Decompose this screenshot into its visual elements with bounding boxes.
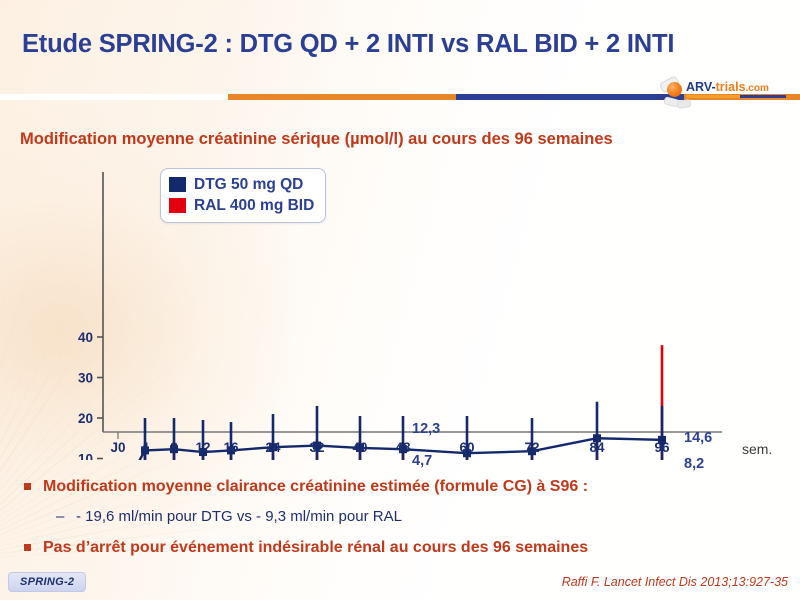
x-tick-label: 72 — [524, 440, 539, 455]
arv-trials-logo[interactable]: ARV-trials.com — [640, 78, 788, 108]
citation-reference: Raffi F. Lancet Infect Dis 2013;13:927-3… — [562, 575, 788, 589]
bullet-text-2: - 19,6 ml/min pour DTG vs - 9,3 ml/min p… — [76, 504, 402, 529]
logo-text: ARV-trials.com — [686, 80, 769, 94]
chart-legend: DTG 50 mg QD RAL 400 mg BID — [160, 168, 326, 223]
bullet-dash-icon: – — [56, 504, 68, 529]
annotation-w48-dtg: 12,3 — [412, 421, 440, 437]
legend-item-ral: RAL 400 mg BID — [169, 195, 314, 216]
logo-text-tld: .com — [746, 83, 769, 94]
legend-swatch-dtg — [169, 177, 186, 192]
serum-creatinine-chart: -20-10010203040 DTG 50 mg QD RAL 400 mg … — [0, 160, 800, 460]
chart-heading: Modification moyenne créatinine sérique … — [20, 130, 613, 149]
x-tick-label: 4 — [141, 440, 149, 455]
x-tick-label: 40 — [352, 440, 367, 455]
x-tick-label: 48 — [395, 440, 410, 455]
legend-swatch-ral — [169, 198, 186, 213]
bullet-text-1: Modification moyenne clairance créatinin… — [43, 474, 588, 500]
logo-underline-blue — [740, 95, 786, 98]
tablet-icon-2 — [676, 99, 691, 109]
x-tick-label: 96 — [654, 440, 669, 455]
logo-text-trials: trials — [716, 80, 746, 94]
bullet-square-icon — [24, 544, 31, 551]
x-tick-label: 8 — [170, 440, 178, 455]
bullet-text-3: Pas d’arrêt pour événement indésirable r… — [43, 535, 588, 561]
y-tick-label: 30 — [78, 371, 93, 386]
bullet-item-3: Pas d’arrêt pour événement indésirable r… — [18, 535, 788, 561]
slide-root: Etude SPRING-2 : DTG QD + 2 INTI vs RAL … — [0, 0, 800, 600]
study-tag-badge: SPRING-2 — [8, 572, 86, 592]
x-tick-label: 84 — [589, 440, 604, 455]
bullet-list: Modification moyenne clairance créatinin… — [18, 474, 788, 565]
x-tick-label: 16 — [223, 440, 238, 455]
pill-cap-icon — [667, 82, 682, 97]
x-tick-label: 60 — [459, 440, 474, 455]
x-tick-label: J0 — [110, 440, 125, 455]
x-tick-label: 32 — [309, 440, 324, 455]
rule-segment-orange-left — [228, 94, 456, 100]
x-axis-unit-label: sem. — [742, 441, 772, 457]
bullet-item-1: Modification moyenne clairance créatinin… — [18, 474, 788, 500]
bullet-square-icon — [24, 483, 31, 490]
x-tick-label: 12 — [195, 440, 210, 455]
x-tick-label: 24 — [265, 440, 280, 455]
logo-text-arv: ARV- — [686, 80, 716, 94]
y-tick-label: 20 — [78, 411, 93, 426]
bullet-item-2: – - 19,6 ml/min pour DTG vs - 9,3 ml/min… — [56, 504, 788, 529]
y-tick-label: 40 — [78, 330, 93, 345]
chart-x-axis-labels: J04812162432404860728496 — [0, 440, 800, 462]
page-title: Etude SPRING-2 : DTG QD + 2 INTI vs RAL … — [22, 30, 782, 59]
legend-label-ral: RAL 400 mg BID — [194, 197, 314, 215]
legend-item-dtg: DTG 50 mg QD — [169, 174, 314, 195]
legend-label-dtg: DTG 50 mg QD — [194, 176, 303, 194]
rule-segment-white — [0, 94, 228, 100]
chart-svg: -20-10010203040 — [0, 160, 800, 460]
